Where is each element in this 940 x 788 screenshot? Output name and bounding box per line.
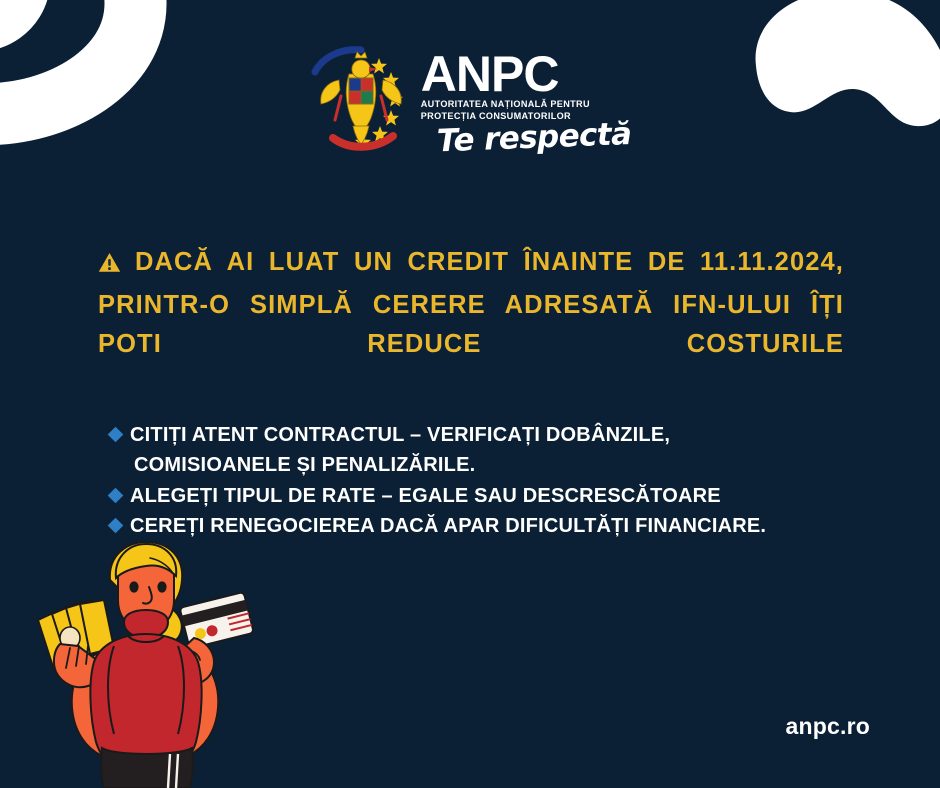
diamond-bullet-icon	[108, 518, 124, 534]
list-item: CITIȚI ATENT CONTRACTUL – VERIFICAȚI DOB…	[110, 420, 830, 481]
list-item: CEREȚI RENEGOCIEREA DACĂ APAR DIFICULTĂȚ…	[110, 511, 830, 541]
logo-acronym: ANPC	[421, 50, 631, 98]
list-item-label: ALEGEȚI TIPUL DE RATE – EGALE SAU DESCRE…	[130, 485, 721, 507]
website-url[interactable]: anpc.ro	[786, 713, 870, 740]
logo-slogan: Te respectă	[420, 116, 632, 160]
page-title-text: DACĂ AI LUAT UN CREDIT ÎNAINTE DE 11.11.…	[98, 248, 844, 358]
page-title: DACĂ AI LUAT UN CREDIT ÎNAINTE DE 11.11.…	[98, 243, 844, 404]
logo-subtitle-line1: AUTORITATEA NAȚIONALĂ PENTRU	[421, 98, 631, 110]
list-item: ALEGEȚI TIPUL DE RATE – EGALE SAU DESCRE…	[110, 481, 830, 511]
poster-canvas: ANPC AUTORITATEA NAȚIONALĂ PENTRU PROTEC…	[0, 0, 940, 788]
diamond-bullet-icon	[108, 488, 124, 504]
warning-triangle-icon	[98, 246, 121, 286]
advice-list: CITIȚI ATENT CONTRACTUL – VERIFICAȚI DOB…	[110, 420, 830, 542]
diamond-bullet-icon	[108, 427, 124, 443]
list-item-label: CEREȚI RENEGOCIEREA DACĂ APAR DIFICULTĂȚ…	[130, 515, 766, 537]
woman-holding-cash-and-credit-card-illustration	[18, 542, 286, 788]
anpc-logo: ANPC AUTORITATEA NAȚIONALĂ PENTRU PROTEC…	[0, 46, 940, 160]
list-item-label: CITIȚI ATENT CONTRACTUL – VERIFICAȚI DOB…	[130, 424, 670, 476]
romanian-coat-of-arms-icon	[309, 46, 417, 158]
